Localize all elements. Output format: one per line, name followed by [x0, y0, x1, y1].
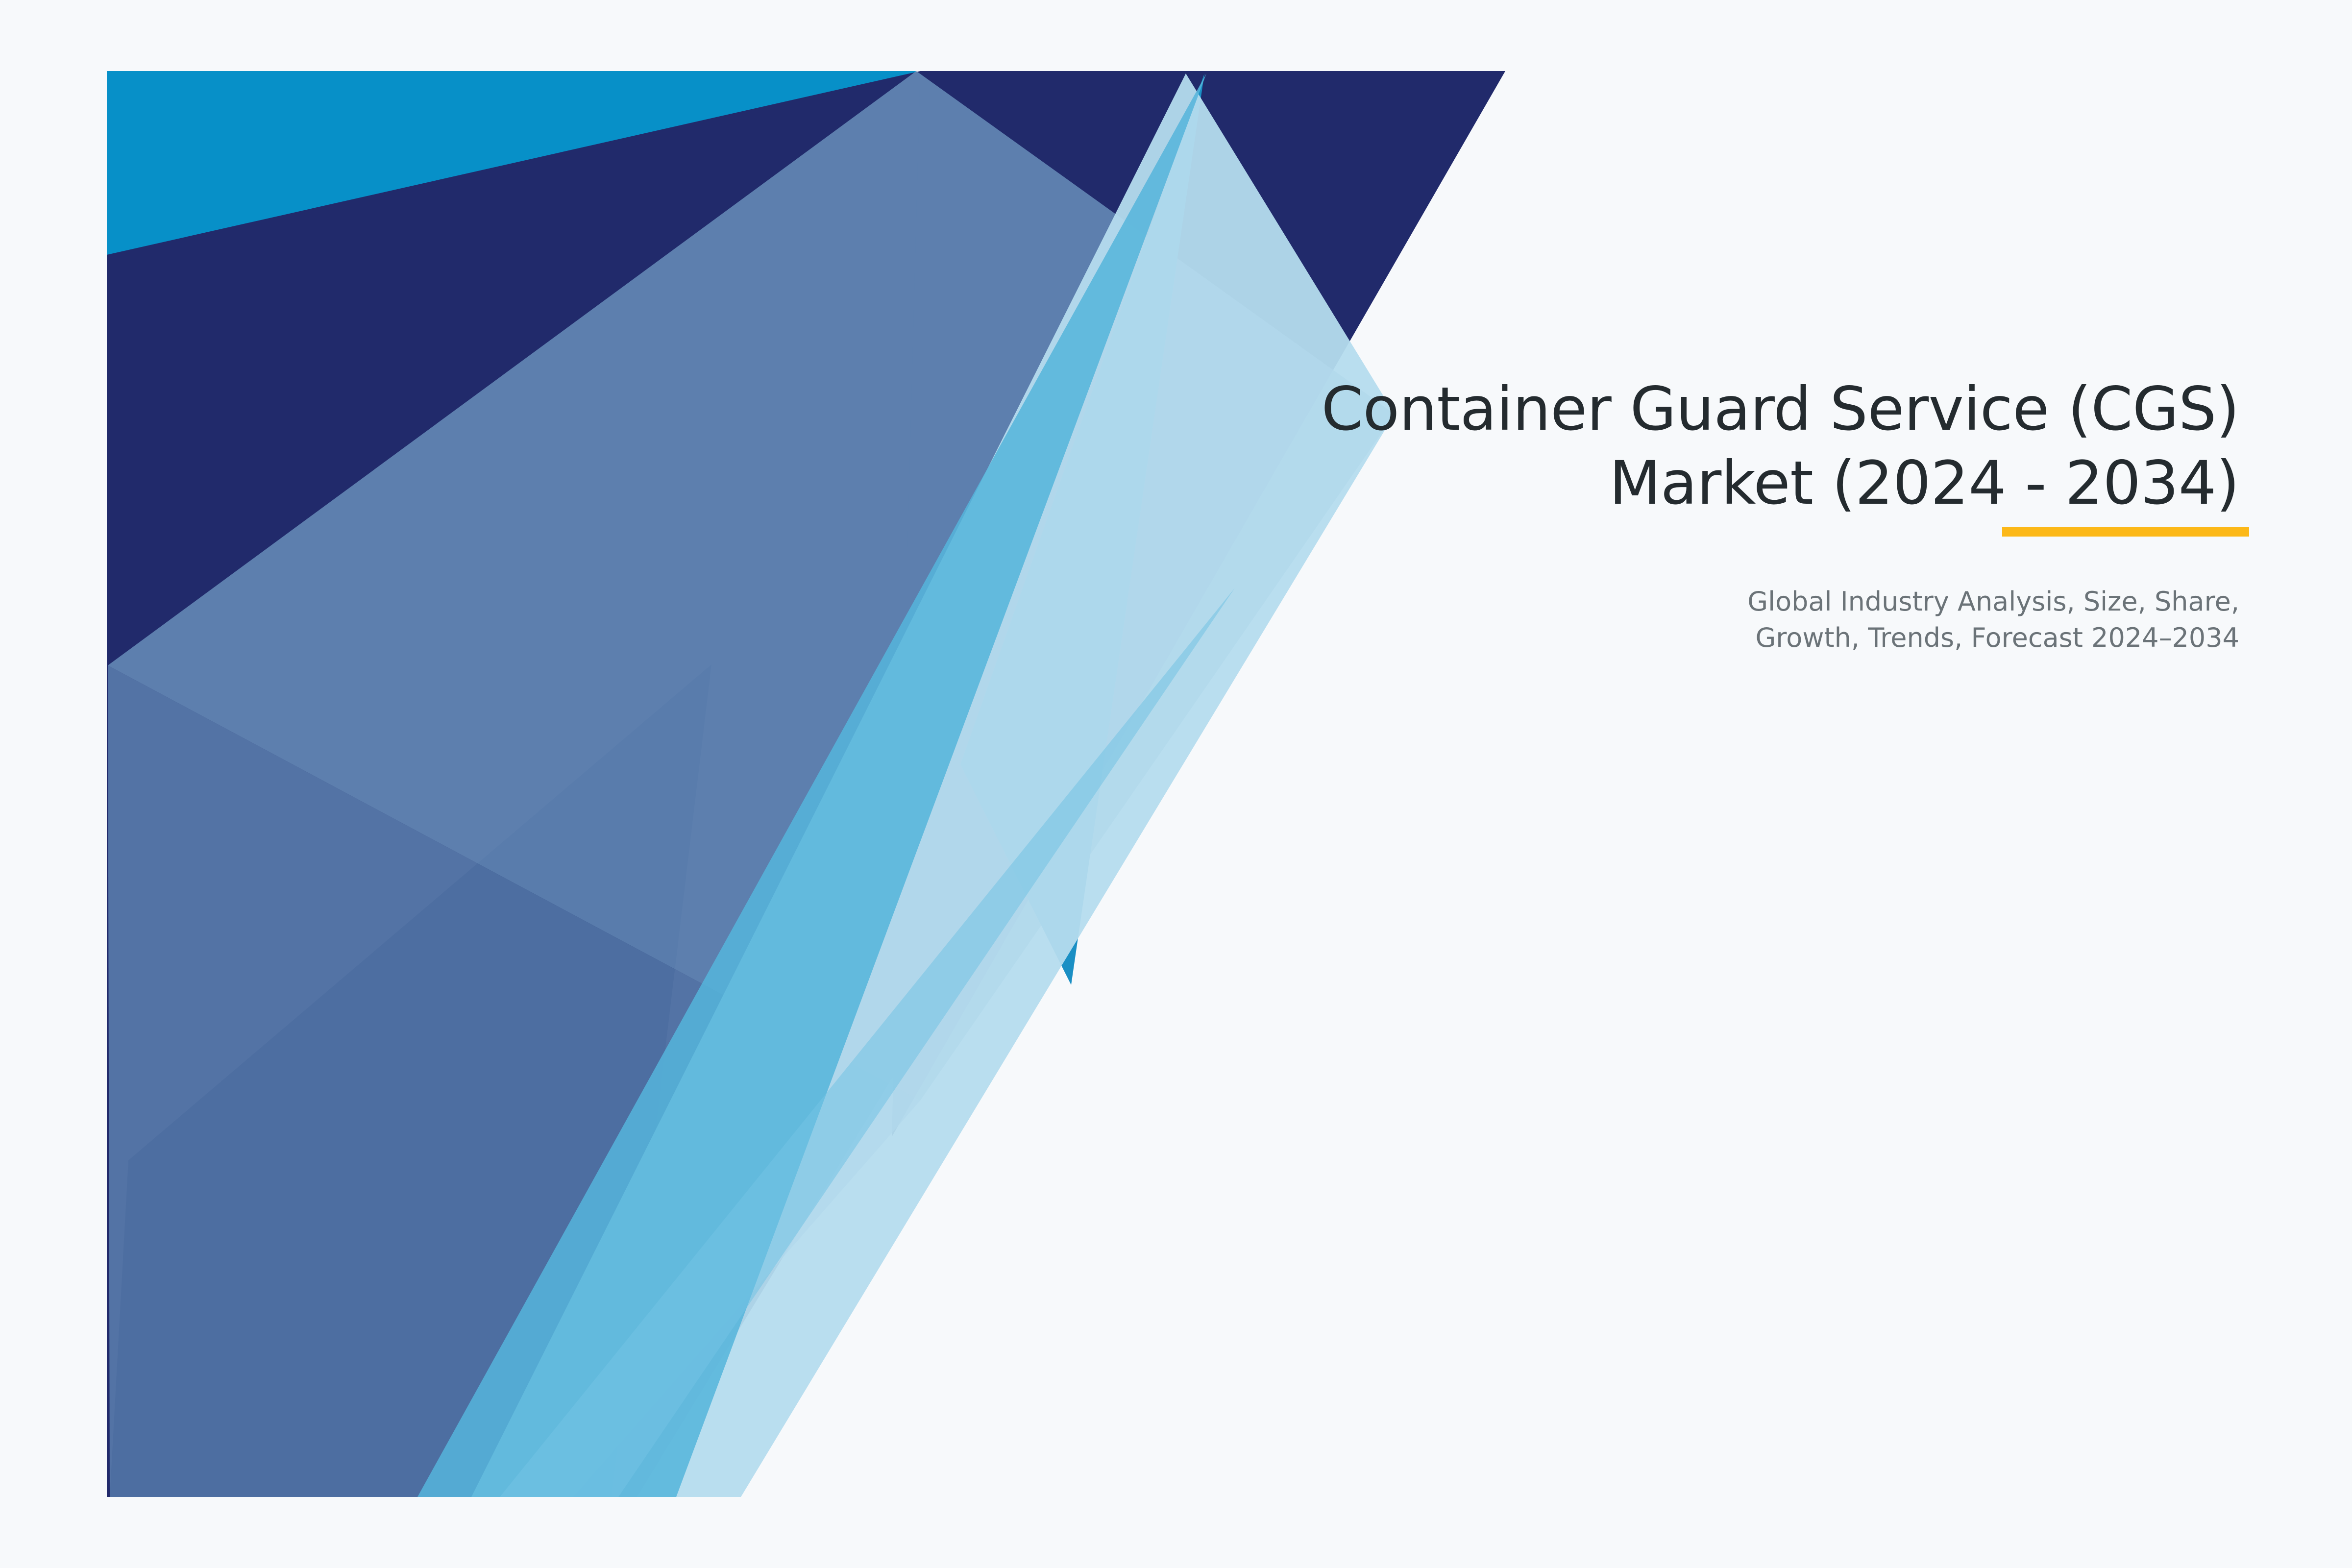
cover-artwork [0, 0, 2352, 1568]
title-wrapper: Container Guard Service (CGS)Market (202… [1068, 372, 2239, 521]
title-accent-underline [2002, 527, 2249, 537]
page-title-line-2: Market (2024 - 2034) [1609, 448, 2239, 518]
report-cover: Container Guard Service (CGS)Market (202… [0, 0, 2352, 1568]
page-title: Container Guard Service (CGS)Market (202… [1068, 372, 2239, 521]
cover-text-block: Container Guard Service (CGS)Market (202… [1068, 372, 2239, 657]
page-subtitle: Global Industry Analysis, Size, Share,Gr… [1068, 584, 2239, 657]
page-subtitle-line-2: Growth, Trends, Forecast 2024–2034 [1755, 622, 2239, 653]
page-subtitle-line-1: Global Industry Analysis, Size, Share, [1747, 586, 2239, 617]
page-title-line-1: Container Guard Service (CGS) [1322, 374, 2239, 444]
